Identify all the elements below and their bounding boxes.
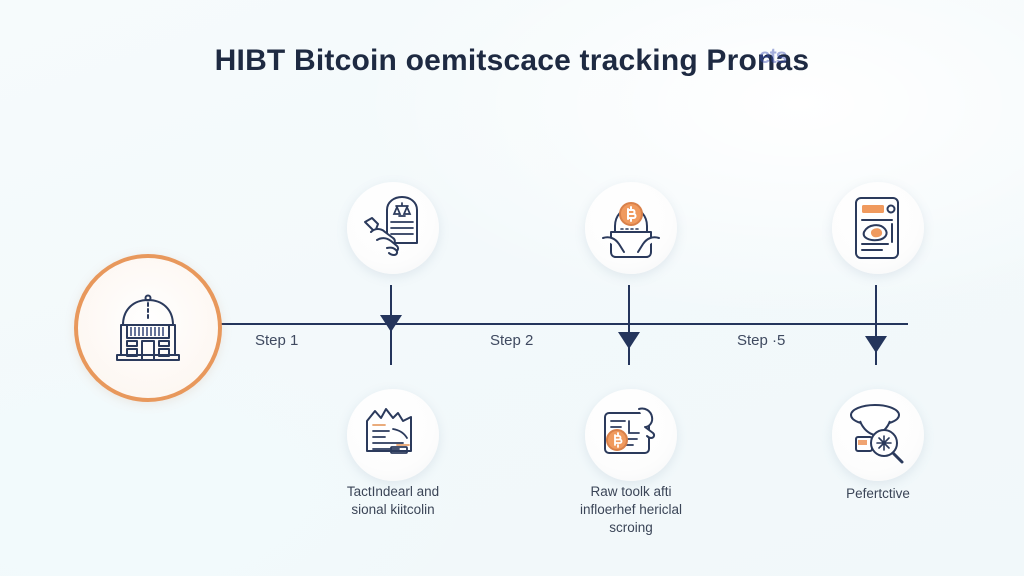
step-label-3: Step ·5 bbox=[737, 332, 785, 349]
node-bottom-transaction-record[interactable] bbox=[585, 389, 677, 481]
hands-bitcoin-bag-icon bbox=[595, 192, 667, 264]
arrowhead-step-1-icon bbox=[380, 315, 402, 332]
caption-line: TactIndearl and bbox=[298, 483, 488, 501]
node-bottom-documentation[interactable] bbox=[347, 389, 439, 481]
page-title-glitch: nas bbox=[757, 44, 809, 77]
report-document-icon bbox=[842, 192, 914, 264]
arrowhead-step-2-icon bbox=[618, 332, 640, 349]
node-start-institution[interactable] bbox=[74, 254, 222, 402]
bitcoin-record-hand-icon bbox=[595, 399, 667, 471]
connector-step-2 bbox=[628, 285, 630, 365]
step-label-2: Step 2 bbox=[490, 332, 533, 349]
document-header-bar bbox=[862, 205, 884, 213]
caption-line: sional kiitcolin bbox=[298, 501, 488, 519]
magnifier-analysis-icon bbox=[842, 399, 914, 471]
bank-building-icon bbox=[105, 285, 191, 371]
caption-line: Pefertctive bbox=[783, 485, 973, 503]
node-top-report[interactable] bbox=[832, 182, 924, 274]
document-chart-icon bbox=[357, 399, 429, 471]
caption-bottom-1: TactIndearl and sional kiitcolin bbox=[298, 483, 488, 519]
node-top-legal-agreement[interactable] bbox=[347, 182, 439, 274]
page-title: HIBT Bitcoin oemitscace tracking Pronas bbox=[0, 44, 1024, 78]
diagram-canvas: HIBT Bitcoin oemitscace tracking Pronas … bbox=[0, 0, 1024, 576]
node-top-custody-wallet[interactable] bbox=[585, 182, 677, 274]
timeline-axis bbox=[205, 323, 908, 325]
page-title-prefix: HIBT Bitcoin oemitscace tracking Pro bbox=[215, 44, 757, 77]
caption-line: Raw toolk afti bbox=[536, 483, 726, 501]
arrowhead-step-3-icon bbox=[865, 336, 887, 353]
step-label-1: Step 1 bbox=[255, 332, 298, 349]
node-bottom-analysis[interactable] bbox=[832, 389, 924, 481]
legal-document-handshake-icon bbox=[357, 192, 429, 264]
connector-step-3 bbox=[875, 285, 877, 365]
caption-line: scroing bbox=[536, 519, 726, 537]
caption-line: infloerhef hericlal bbox=[536, 501, 726, 519]
caption-bottom-3: Pefertctive bbox=[783, 485, 973, 503]
caption-bottom-2: Raw toolk afti infloerhef hericlal scroi… bbox=[536, 483, 726, 537]
